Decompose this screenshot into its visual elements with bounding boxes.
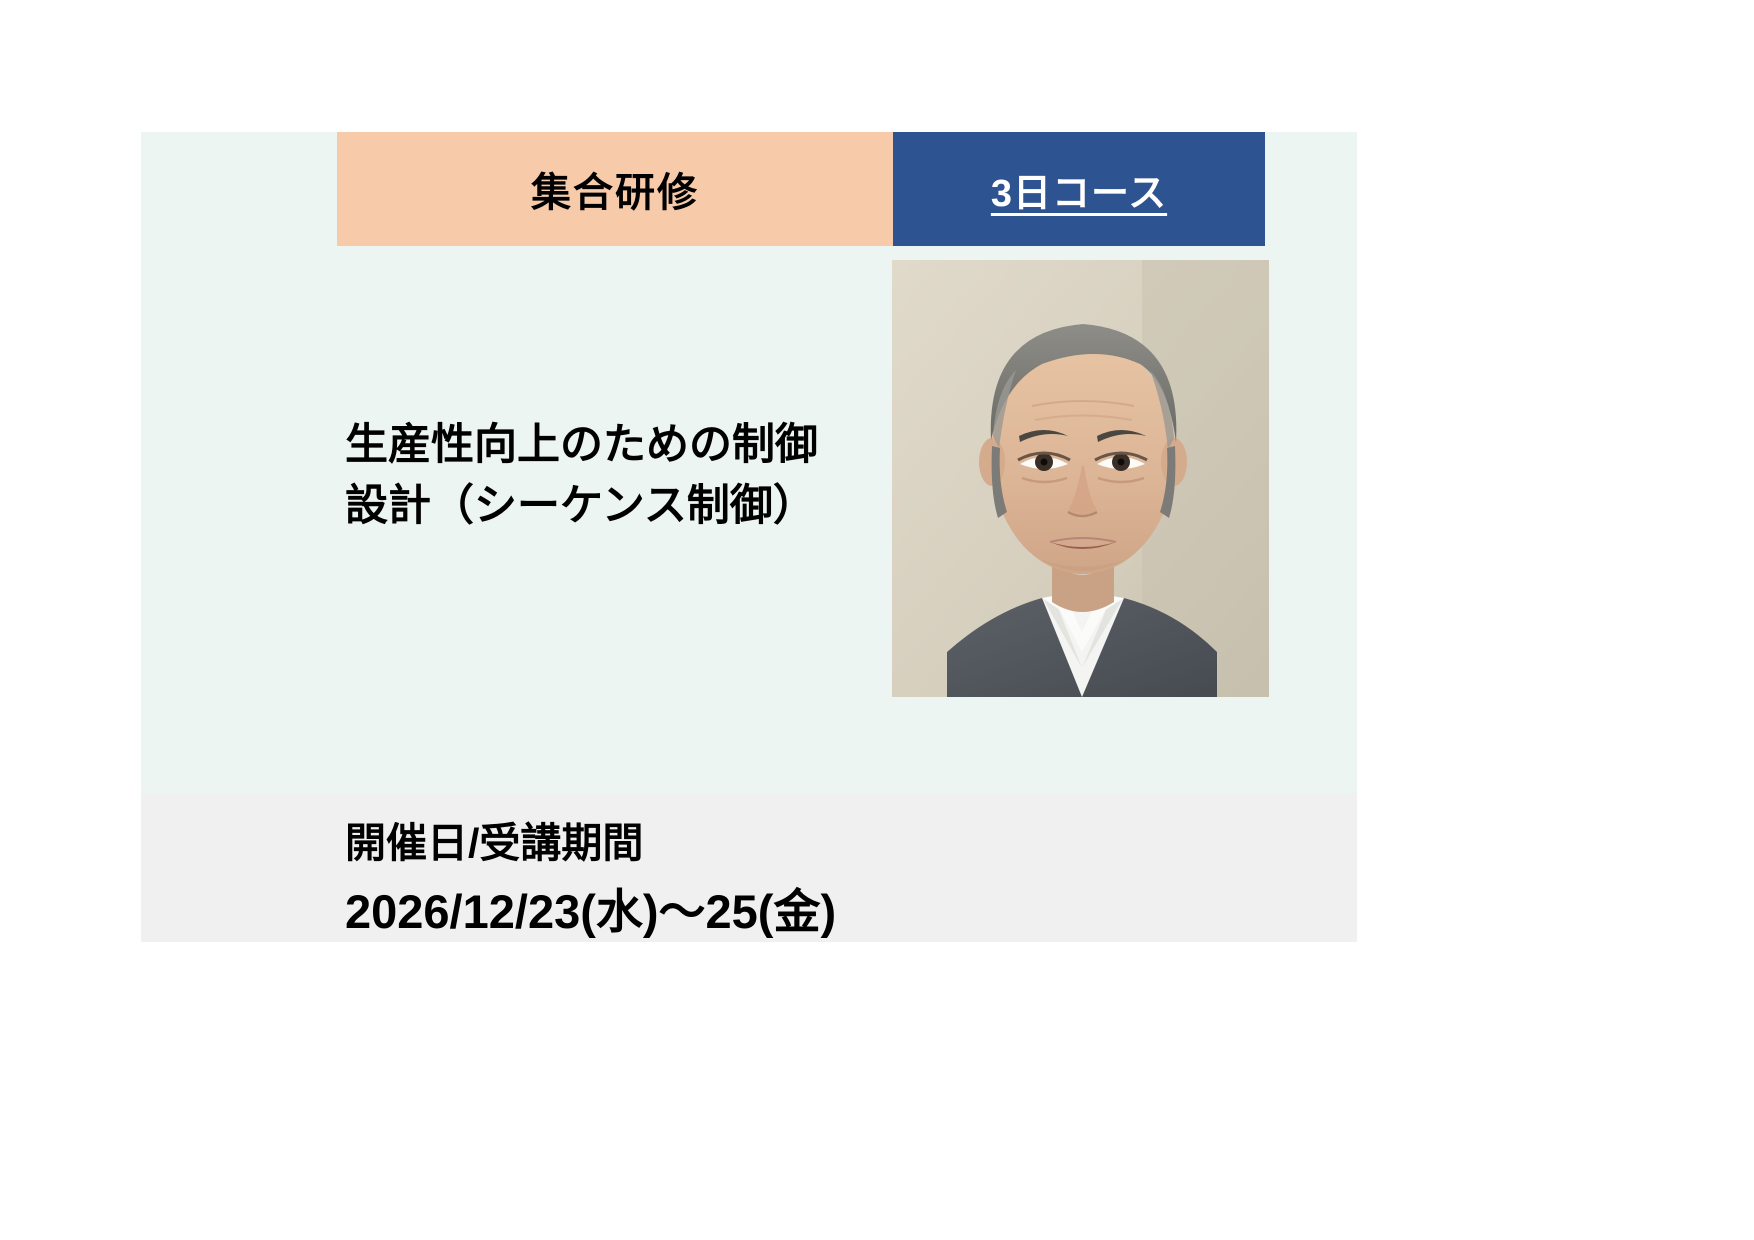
course-title: 生産性向上のための制御 設計（シーケンス制御） (345, 415, 905, 537)
schedule-label: 開催日/受講期間 (345, 809, 643, 869)
course-title-line-2: 設計（シーケンス制御） (345, 476, 905, 537)
training-format-label: 集合研修 (531, 160, 699, 218)
course-title-line-1: 生産性向上のための制御 (345, 415, 905, 476)
instructor-portrait (892, 260, 1269, 697)
course-duration-label: 3日コース (991, 162, 1167, 217)
portrait-photo-icon (892, 260, 1269, 697)
course-card-page: 集合研修 3日コース 生産性向上のための制御 設計（シーケンス制御） (0, 0, 1754, 1240)
course-card: 集合研修 3日コース 生産性向上のための制御 設計（シーケンス制御） (141, 132, 1357, 942)
schedule-footer: 開催日/受講期間 2026/12/23(水)～25(金) (141, 793, 1357, 942)
course-card-header: 集合研修 3日コース (337, 132, 1357, 246)
course-duration-badge[interactable]: 3日コース (893, 132, 1265, 246)
training-format-badge: 集合研修 (337, 132, 893, 246)
schedule-dates: 2026/12/23(水)～25(金) (345, 873, 836, 942)
